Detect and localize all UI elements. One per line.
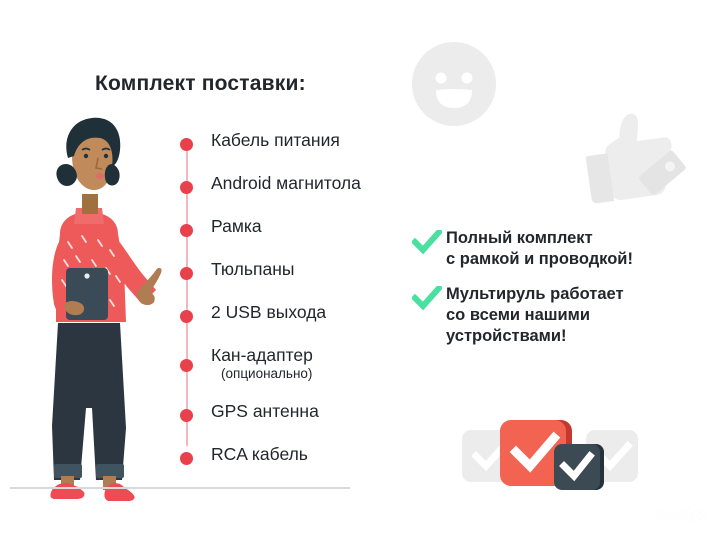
list-item-label: GPS антенна bbox=[211, 401, 319, 422]
list-item-sublabel: (опционально) bbox=[221, 366, 312, 381]
list-item-label: Android магнитола bbox=[211, 173, 361, 194]
avito-logo-icon bbox=[627, 501, 649, 528]
bullet-dot-icon bbox=[180, 409, 193, 422]
list-item: Кан-адаптер (опционально) bbox=[178, 345, 438, 401]
promo-banner: Комплект поставки: bbox=[0, 0, 720, 540]
avito-wordmark: Avito bbox=[654, 502, 706, 528]
list-item: Рамка bbox=[178, 216, 438, 259]
list-item-label: Тюльпаны bbox=[211, 259, 294, 280]
bullet-dot-icon bbox=[180, 310, 193, 323]
list-item: Кабель питания bbox=[178, 130, 438, 173]
list-item: 2 USB выхода bbox=[178, 302, 438, 345]
feature-claim: Полный комплект с рамкой и проводкой! bbox=[412, 228, 702, 270]
list-item: Тюльпаны bbox=[178, 259, 438, 302]
list-item: Android магнитола bbox=[178, 173, 438, 216]
list-item: RCA кабель bbox=[178, 444, 438, 487]
green-check-icon bbox=[412, 230, 442, 256]
package-contents-list: Кабель питания Android магнитола Рамка Т… bbox=[178, 130, 438, 487]
feature-claim-line: Полный комплект bbox=[446, 228, 702, 249]
list-item-label: RCA кабель bbox=[211, 444, 308, 465]
avito-watermark: Avito bbox=[627, 501, 706, 528]
feature-claim-line: со всеми нашими bbox=[446, 305, 702, 326]
checkbox-group-icon bbox=[460, 408, 640, 498]
bullet-dot-icon bbox=[180, 224, 193, 237]
woman-pointing-illustration bbox=[14, 108, 174, 508]
thumbs-up-icon bbox=[578, 106, 686, 206]
list-item-label: Кан-адаптер bbox=[211, 345, 313, 366]
page-title: Комплект поставки: bbox=[95, 72, 306, 96]
smiley-face-icon bbox=[408, 38, 500, 130]
feature-claim-line: с рамкой и проводкой! bbox=[446, 249, 702, 270]
bullet-dot-icon bbox=[180, 267, 193, 280]
ground-line bbox=[10, 487, 350, 489]
bullet-dot-icon bbox=[180, 359, 193, 372]
bullet-dot-icon bbox=[180, 138, 193, 151]
list-item-label: Кабель питания bbox=[211, 130, 340, 151]
green-check-icon bbox=[412, 286, 442, 312]
feature-claim-line: Мультируль работает bbox=[446, 284, 702, 305]
feature-claim: Мультируль работает со всеми нашими устр… bbox=[412, 284, 702, 347]
feature-claim-line: устройствами! bbox=[446, 326, 702, 347]
feature-claims: Полный комплект с рамкой и проводкой! Му… bbox=[412, 228, 702, 361]
bullet-dot-icon bbox=[180, 452, 193, 465]
list-item: GPS антенна bbox=[178, 401, 438, 444]
list-item-label: Рамка bbox=[211, 216, 262, 237]
list-item-label: 2 USB выхода bbox=[211, 302, 326, 323]
bullet-dot-icon bbox=[180, 181, 193, 194]
